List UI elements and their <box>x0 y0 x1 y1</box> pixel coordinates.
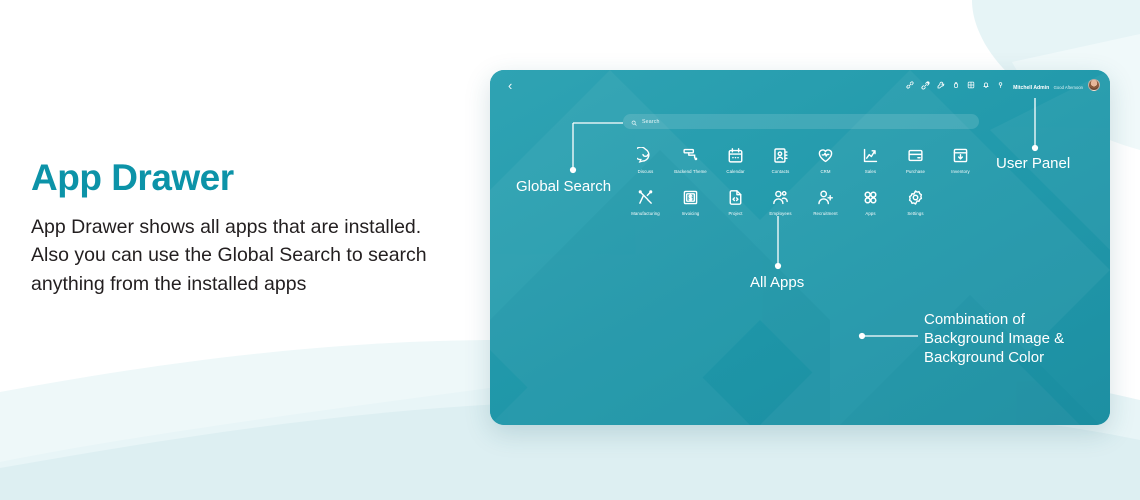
project-code-icon <box>727 187 744 208</box>
annotation-global-search: Global Search <box>516 177 611 196</box>
grid-icon[interactable] <box>967 81 975 89</box>
person-plus-icon <box>817 187 834 208</box>
app-contacts[interactable]: Contacts <box>758 145 803 174</box>
user-name: Mitchell Admin <box>1013 85 1049 91</box>
annotation-all-apps: All Apps <box>750 273 804 292</box>
app-label: Recruitment <box>813 211 837 216</box>
crm-heart-icon <box>817 145 834 166</box>
annotation-background: Combination of Background Image & Backgr… <box>924 310 1104 367</box>
app-row: Discuss Backend Theme <box>623 145 983 174</box>
app-label: Apps <box>865 211 875 216</box>
app-label: CRM <box>820 169 830 174</box>
wrench-icon[interactable] <box>937 81 945 89</box>
sales-chart-icon <box>862 145 879 166</box>
annotation-user-panel: User Panel <box>996 154 1070 173</box>
app-crm[interactable]: CRM <box>803 145 848 174</box>
app-label: Contacts <box>772 169 790 174</box>
app-project[interactable]: Project <box>713 187 758 216</box>
app-label: Manufacturing <box>631 211 660 216</box>
copy-block: App Drawer App Drawer shows all apps tha… <box>31 158 451 298</box>
employees-icon <box>772 187 789 208</box>
user-text: Mitchell Admin Good Afternoon <box>1013 75 1083 95</box>
search-icon <box>631 113 637 131</box>
app-apps[interactable]: Apps <box>848 187 893 216</box>
app-backend-theme[interactable]: Backend Theme <box>668 145 713 174</box>
page-description: App Drawer shows all apps that are insta… <box>31 213 451 299</box>
app-label: Sales <box>865 169 876 174</box>
user-panel[interactable]: Mitchell Admin Good Afternoon <box>1013 75 1100 95</box>
app-settings[interactable]: Settings <box>893 187 938 216</box>
tools-icon <box>637 187 654 208</box>
bug-icon[interactable] <box>952 81 960 89</box>
calendar-icon <box>727 145 744 166</box>
app-label: Settings <box>907 211 923 216</box>
discuss-icon <box>637 145 654 166</box>
paint-roller-icon <box>682 145 699 166</box>
app-drawer-panel: ‹ <box>490 70 1110 425</box>
app-label: Employees <box>769 211 791 216</box>
back-icon[interactable]: ‹ <box>508 79 512 92</box>
bell-icon[interactable] <box>982 81 990 89</box>
apps-grid-icon <box>862 187 879 208</box>
app-employees[interactable]: Employees <box>758 187 803 216</box>
panel-topbar: ‹ <box>490 70 1110 100</box>
app-invoicing[interactable]: Invoicing <box>668 187 713 216</box>
app-label: Purchase <box>906 169 925 174</box>
purchase-card-icon <box>907 145 924 166</box>
systray-icons <box>906 81 1004 90</box>
inventory-box-icon <box>952 145 969 166</box>
invoice-dollar-icon <box>682 187 699 208</box>
annotation-text: Combination of Background Image & Backgr… <box>924 310 1104 367</box>
app-row: Manufacturing Invoicing <box>623 187 983 216</box>
app-grid: Discuss Backend Theme <box>623 145 983 216</box>
avatar[interactable] <box>1088 79 1100 91</box>
app-calendar[interactable]: Calendar <box>713 145 758 174</box>
contacts-book-icon <box>772 145 789 166</box>
app-label: Discuss <box>638 169 654 174</box>
app-recruitment[interactable]: Recruitment <box>803 187 848 216</box>
link-badge-icon[interactable] <box>921 81 930 90</box>
infographic-slide: App Drawer App Drawer shows all apps tha… <box>0 0 1140 500</box>
app-label: Project <box>728 211 742 216</box>
annotation-text: User Panel <box>996 154 1070 173</box>
app-discuss[interactable]: Discuss <box>623 145 668 174</box>
gear-icon <box>907 187 924 208</box>
search-placeholder: Search <box>642 119 660 125</box>
annotation-text: Global Search <box>516 177 611 196</box>
app-manufacturing[interactable]: Manufacturing <box>623 187 668 216</box>
app-label: Invoicing <box>682 211 700 216</box>
user-greeting: Good Afternoon <box>1054 85 1083 90</box>
search-input[interactable]: Search <box>623 114 979 129</box>
app-sales[interactable]: Sales <box>848 145 893 174</box>
app-purchase[interactable]: Purchase <box>893 145 938 174</box>
app-label: Inventory <box>951 169 970 174</box>
annotation-text: All Apps <box>750 273 804 292</box>
app-label: Calendar <box>726 169 744 174</box>
page-title: App Drawer <box>31 158 451 199</box>
link-icon[interactable] <box>906 81 914 89</box>
app-inventory[interactable]: Inventory <box>938 145 983 174</box>
app-label: Backend Theme <box>674 169 707 174</box>
pin-icon[interactable] <box>997 81 1004 89</box>
